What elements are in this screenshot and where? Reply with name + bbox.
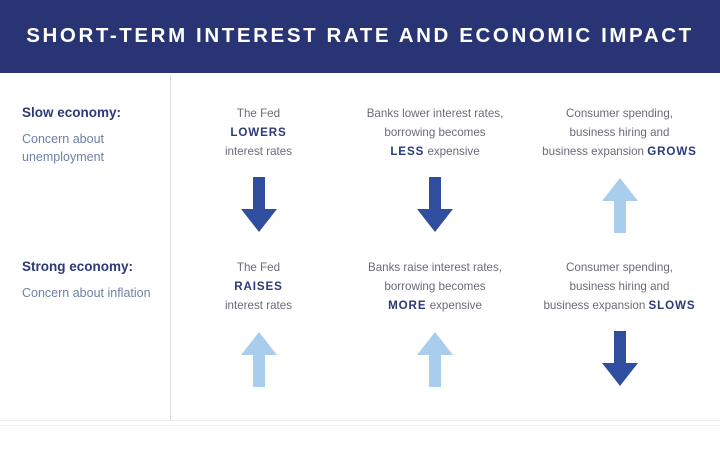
step-borrowing-less-expensive: Banks lower interest rates, borrowing be… xyxy=(345,105,525,161)
step-fed-lowers: The Fed LOWERS interest rates xyxy=(181,105,336,161)
step-line-1: Consumer spending, xyxy=(527,105,712,124)
slide-header: Short-Term Interest Rate and Economic Im… xyxy=(0,0,720,73)
slide-canvas: Short-Term Interest Rate and Economic Im… xyxy=(0,0,720,450)
bottom-rule-secondary xyxy=(0,425,720,426)
arrow-down-icon xyxy=(600,331,640,387)
arrow-slot-borrowing-more xyxy=(345,331,525,387)
step-line-3: business expansion SLOWS xyxy=(527,297,712,316)
step-emphasis-grows: GROWS xyxy=(647,145,697,158)
arrow-slot-spending-grows xyxy=(527,177,712,233)
step-text-fed-lowers: The Fed LOWERS interest rates xyxy=(181,105,336,161)
row-subtitle-slow-economy: Concern about unemployment xyxy=(22,130,162,166)
step-line-1: Banks lower interest rates, xyxy=(345,105,525,124)
step-line-3: LESS expensive xyxy=(345,143,525,162)
step-text-fed-raises: The Fed RAISES interest rates xyxy=(181,259,336,315)
arrow-down-icon xyxy=(239,177,279,233)
row-title-strong-economy: Strong economy: xyxy=(22,259,162,275)
step-text-borrowing-less: Banks lower interest rates, borrowing be… xyxy=(345,105,525,161)
step-line-2: business hiring and xyxy=(527,278,712,297)
row-subtitle-strong-economy: Concern about inflation xyxy=(22,284,162,302)
step-line-1: The Fed xyxy=(181,105,336,124)
step-line-3: business expansion GROWS xyxy=(527,143,712,162)
step-line-2: business hiring and xyxy=(527,124,712,143)
slide-body: Slow economy: Concern about unemployment… xyxy=(0,73,720,450)
row-slow-economy: Slow economy: Concern about unemployment… xyxy=(0,105,720,260)
step-emphasis-lowers: LOWERS xyxy=(181,124,336,143)
step-line-3: interest rates xyxy=(181,297,336,316)
step-line-1: Banks raise interest rates, xyxy=(345,259,525,278)
step-line-3-rest: business expansion xyxy=(542,145,647,158)
step-spending-slows: Consumer spending, business hiring and b… xyxy=(527,259,712,315)
step-line-3-rest: business expansion xyxy=(543,299,648,312)
row-label-slow-economy: Slow economy: Concern about unemployment xyxy=(22,105,162,166)
step-borrowing-more-expensive: Banks raise interest rates, borrowing be… xyxy=(345,259,525,315)
step-fed-raises: The Fed RAISES interest rates xyxy=(181,259,336,315)
step-line-3: MORE expensive xyxy=(345,297,525,316)
step-text-borrowing-more: Banks raise interest rates, borrowing be… xyxy=(345,259,525,315)
step-emphasis-slows: SLOWS xyxy=(649,299,696,312)
arrow-down-icon xyxy=(415,177,455,233)
step-spending-grows: Consumer spending, business hiring and b… xyxy=(527,105,712,161)
row-strong-economy: Strong economy: Concern about inflation … xyxy=(0,259,720,414)
step-emphasis-more: MORE xyxy=(388,299,426,312)
step-line-3-rest: expensive xyxy=(424,145,479,158)
arrow-slot-fed-raises xyxy=(181,331,336,387)
arrow-slot-spending-slows xyxy=(527,331,712,387)
page-title: Short-Term Interest Rate and Economic Im… xyxy=(26,26,694,47)
bottom-rule xyxy=(0,420,720,421)
arrow-slot-fed-lowers xyxy=(181,177,336,233)
arrow-up-icon xyxy=(239,331,279,387)
step-text-spending-slows: Consumer spending, business hiring and b… xyxy=(527,259,712,315)
step-line-1: The Fed xyxy=(181,259,336,278)
arrow-slot-borrowing-less xyxy=(345,177,525,233)
step-emphasis-raises: RAISES xyxy=(181,278,336,297)
row-title-slow-economy: Slow economy: xyxy=(22,105,162,121)
step-line-2: borrowing becomes xyxy=(345,278,525,297)
step-text-spending-grows: Consumer spending, business hiring and b… xyxy=(527,105,712,161)
step-line-3-rest: expensive xyxy=(426,299,481,312)
arrow-up-icon xyxy=(600,177,640,233)
row-label-strong-economy: Strong economy: Concern about inflation xyxy=(22,259,162,302)
step-line-2: borrowing becomes xyxy=(345,124,525,143)
step-emphasis-less: LESS xyxy=(390,145,424,158)
step-line-3: interest rates xyxy=(181,143,336,162)
arrow-up-icon xyxy=(415,331,455,387)
step-line-1: Consumer spending, xyxy=(527,259,712,278)
